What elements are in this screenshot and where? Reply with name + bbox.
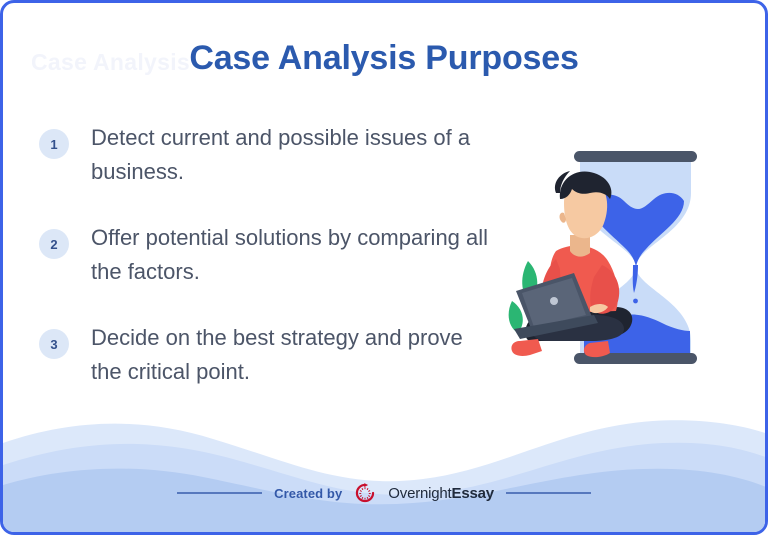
- credit-label: Created by: [274, 486, 342, 501]
- illustration-person-with-laptop-and-hourglass: [498, 141, 738, 376]
- list-item-text: Detect current and possible issues of a …: [91, 121, 489, 189]
- list-item: 1 Detect current and possible issues of …: [39, 121, 489, 189]
- list-item-text: Decide on the best strategy and prove th…: [91, 321, 489, 389]
- footer-credit: Created by: [3, 482, 765, 504]
- purpose-list: 1 Detect current and possible issues of …: [39, 121, 489, 421]
- divider-left: [177, 492, 262, 494]
- brand-wordmark: OvernightEssay: [388, 485, 494, 502]
- list-item-number-badge: 3: [39, 329, 69, 359]
- list-item-number-badge: 2: [39, 229, 69, 259]
- brand-name-strong: Essay: [452, 485, 494, 502]
- list-item: 2 Offer potential solutions by comparing…: [39, 221, 489, 289]
- list-item: 3 Decide on the best strategy and prove …: [39, 321, 489, 389]
- brand-name-light: Overnight: [388, 485, 451, 502]
- wave-decoration: [3, 397, 765, 532]
- divider-right: [506, 492, 591, 494]
- circular-arrow-clock-icon: [354, 482, 376, 504]
- list-item-text: Offer potential solutions by comparing a…: [91, 221, 489, 289]
- brand-logo-icon-wrap: [354, 482, 376, 504]
- page-title: Case Analysis Purposes: [3, 39, 765, 78]
- list-item-number-badge: 1: [39, 129, 69, 159]
- infographic-card: Case Analysis Case Analysis Purposes 1 D…: [0, 0, 768, 535]
